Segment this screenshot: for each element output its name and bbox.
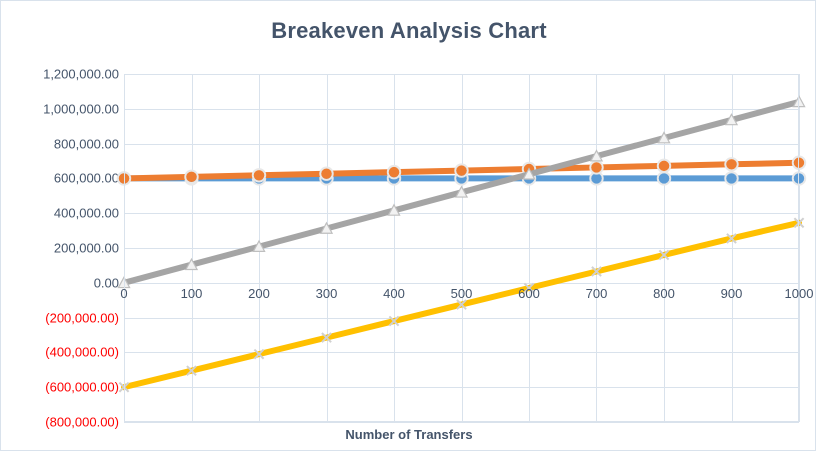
series-revenue xyxy=(118,96,804,287)
series-layer xyxy=(124,74,799,422)
data-point-marker xyxy=(725,158,737,170)
x-axis-tick-label: 700 xyxy=(586,286,608,301)
data-point-marker xyxy=(725,172,737,184)
x-axis-tick-label: 0 xyxy=(120,286,127,301)
x-axis-tick-label: 300 xyxy=(316,286,338,301)
gridline-horizontal xyxy=(124,422,799,423)
y-axis-tick-label: 400,000.00 xyxy=(1,206,119,221)
x-axis-tick-label: 200 xyxy=(248,286,270,301)
data-point-marker xyxy=(793,157,805,169)
data-point-marker xyxy=(793,172,805,184)
data-point-marker xyxy=(118,172,130,184)
chart-title: Breakeven Analysis Chart xyxy=(1,18,816,44)
gridline-vertical xyxy=(799,74,800,422)
y-axis-tick-label: (400,000.00) xyxy=(1,345,119,360)
data-point-marker xyxy=(320,168,332,180)
data-point-marker xyxy=(455,164,467,176)
y-axis-tick-label: 1,200,000.00 xyxy=(1,67,119,82)
breakeven-analysis-chart: Breakeven Analysis Chart 1,200,000.001,0… xyxy=(0,0,816,451)
plot-area xyxy=(124,74,799,422)
data-point-marker xyxy=(658,160,670,172)
y-axis-tick-label: (200,000.00) xyxy=(1,310,119,325)
data-point-marker xyxy=(658,172,670,184)
x-axis-tick-label: 100 xyxy=(181,286,203,301)
y-axis-tick-label: 800,000.00 xyxy=(1,136,119,151)
y-axis-tick-label: 600,000.00 xyxy=(1,171,119,186)
x-axis-tick-label: 500 xyxy=(451,286,473,301)
x-axis-title: Number of Transfers xyxy=(1,427,816,442)
x-axis-tick-label: 600 xyxy=(518,286,540,301)
y-axis-tick-label: (600,000.00) xyxy=(1,380,119,395)
x-axis-tick-labels: 01002003004005006007008009001000 xyxy=(124,286,799,306)
x-axis-tick-label: 400 xyxy=(383,286,405,301)
data-point-marker xyxy=(590,161,602,173)
y-axis-tick-labels: 1,200,000.001,000,000.00800,000.00600,00… xyxy=(1,74,119,422)
y-axis-tick-label: 0.00 xyxy=(1,275,119,290)
data-point-marker xyxy=(253,169,265,181)
data-point-marker xyxy=(185,171,197,183)
x-axis-tick-label: 900 xyxy=(721,286,743,301)
y-axis-tick-label: 1,000,000.00 xyxy=(1,101,119,116)
y-axis-tick-label: 200,000.00 xyxy=(1,241,119,256)
x-axis-tick-label: 1000 xyxy=(785,286,814,301)
data-point-marker xyxy=(388,166,400,178)
x-axis-tick-label: 800 xyxy=(653,286,675,301)
